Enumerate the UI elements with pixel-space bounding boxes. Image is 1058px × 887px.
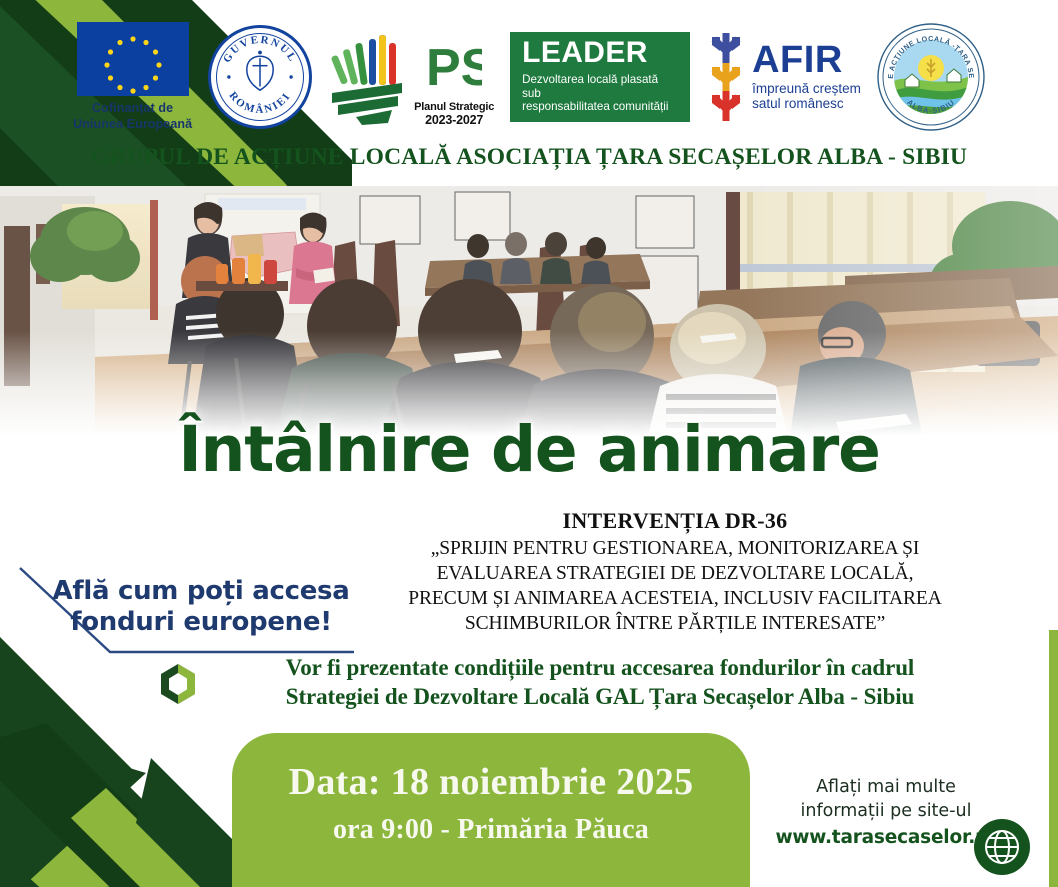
leader-title: LEADER [522, 38, 678, 68]
ps-line-1: Planul Strategic [414, 101, 494, 113]
government-seal-icon: GUVERNUL ROMÂNIEI [208, 25, 312, 129]
eu-caption-line-2: Uniunea Europeană [73, 117, 192, 132]
eu-flag-icon [77, 22, 189, 96]
right-edge-accent-strip [1049, 630, 1058, 887]
wheat-ear-icon [706, 29, 746, 125]
planul-strategic-logo: PS Planul Strategic 2023-2027 [328, 27, 494, 127]
intervention-code: INTERVENȚIA DR-36 [345, 508, 1005, 534]
event-time-place: ora 9:00 - Primăria Păuca [333, 814, 649, 846]
gal-tara-secaselor-seal: GRUPUL DE ACȚIUNE LOCALĂ -ȚARA SECAȘELOR… [877, 23, 985, 131]
meeting-room-photo [0, 186, 1058, 436]
ps-line-2: 2023-2027 [425, 113, 483, 127]
intervention-line-3: PRECUM ȘI ANIMAREA ACESTEIA, INCLUSIV FA… [345, 587, 1005, 612]
presentation-line-2: Strategiei de Dezvoltare Locală GAL Țara… [190, 683, 1010, 712]
intervention-line-2: EVALUAREA STRATEGIEI DE DEZVOLTARE LOCAL… [345, 562, 1005, 587]
afir-subtitle-line-2: satul românesc [752, 96, 861, 112]
leader-logo: LEADER Dezvoltarea locală plasată sub re… [510, 32, 690, 122]
hexagon-logo-icon [156, 662, 200, 706]
globe-icon[interactable] [974, 819, 1030, 875]
eu-flag-logo: Cofinanțat de Uniunea Europeană [73, 22, 192, 132]
website-line-1: Aflați mai multe [740, 776, 1032, 800]
callout-line-2: fonduri europene! [48, 607, 354, 638]
presentation-text: Vor fi prezentate condițiile pentru acce… [150, 654, 1010, 712]
afir-logo: AFIR împreună creștem satul românesc [706, 29, 861, 125]
leader-subtitle-line-2: responsabilitatea comunității [522, 100, 678, 114]
ps-monogram-icon: PS [426, 39, 482, 101]
page-title: Întâlnire de animare [0, 418, 1058, 481]
event-date-card: Data: 18 noiembrie 2025 ora 9:00 - Primă… [232, 733, 750, 887]
ps-leaf-mark-icon [328, 31, 410, 127]
afir-title: AFIR [752, 42, 861, 78]
afir-subtitle-line-1: împreună creștem [752, 81, 861, 97]
presentation-line-1: Vor fi prezentate condițiile pentru acce… [190, 654, 1010, 683]
gal-seal-icon: GRUPUL DE ACȚIUNE LOCALĂ -ȚARA SECAȘELOR… [877, 23, 985, 131]
leader-subtitle-line-1: Dezvoltarea locală plasată sub [522, 73, 678, 100]
callout-line-1: Află cum poți accesa [48, 576, 354, 607]
callout-text: Află cum poți accesa fonduri europene! [48, 576, 354, 637]
partner-logo-bar: Cofinanțat de Uniunea Europeană GUVERNUL… [0, 18, 1058, 136]
eu-caption-line-1: Cofinanțat de [73, 101, 192, 116]
intervention-block: INTERVENȚIA DR-36 „SPRIJIN PENTRU GESTIO… [345, 508, 1005, 637]
svg-text:ROMÂNIEI: ROMÂNIEI [227, 90, 294, 116]
svg-text:PS: PS [426, 39, 482, 97]
intervention-line-4: SCHIMBURILOR ÎNTRE PĂRȚILE INTERESATE” [345, 612, 1005, 637]
organisation-title: GRUPUL DE ACȚIUNE LOCALĂ ASOCIAȚIA ȚARA … [0, 144, 1058, 171]
poster-canvas: Cofinanțat de Uniunea Europeană GUVERNUL… [0, 0, 1058, 887]
photo-fade-overlay [0, 186, 1058, 436]
intervention-line-1: „SPRIJIN PENTRU GESTIONAREA, MONITORIZAR… [345, 537, 1005, 562]
event-date: Data: 18 noiembrie 2025 [289, 760, 694, 804]
guvernul-romaniei-seal: GUVERNUL ROMÂNIEI [208, 25, 312, 129]
